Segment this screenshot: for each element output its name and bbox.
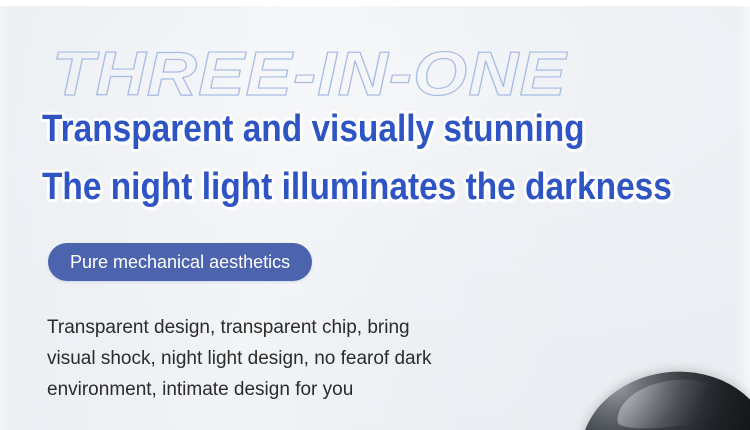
headline-secondary: The night light illuminates the darkness (42, 168, 672, 206)
feature-tag-pill[interactable]: Pure mechanical aesthetics (48, 243, 312, 281)
description-line: environment, intimate design for you (47, 374, 567, 405)
description-line: Transparent design, transparent chip, br… (47, 312, 567, 343)
description-line: visual shock, night light design, no fea… (47, 343, 567, 374)
watermark-text: THREE-IN-ONE (52, 44, 567, 106)
description-paragraph: Transparent design, transparent chip, br… (47, 312, 567, 405)
top-white-strip (0, 0, 750, 6)
feature-tag-label: Pure mechanical aesthetics (70, 252, 290, 273)
headline-primary: Transparent and visually stunning (42, 110, 585, 148)
promo-banner: THREE-IN-ONE Transparent and visually st… (0, 0, 750, 430)
